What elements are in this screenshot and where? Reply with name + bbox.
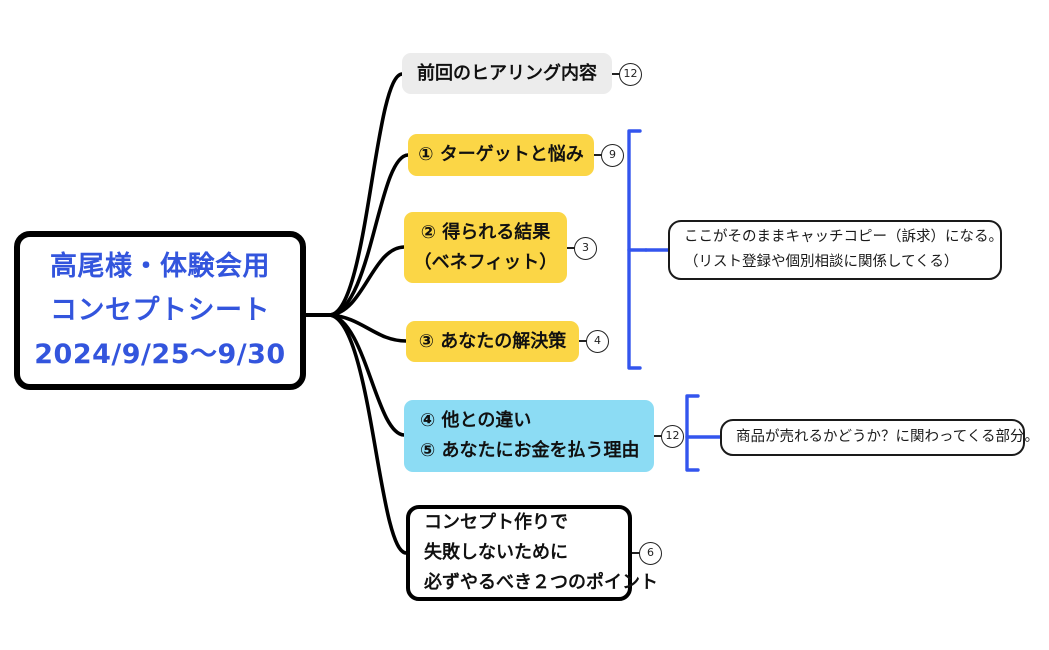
callout-sellability[interactable]: 商品が売れるかどうか？に関わってくる部分。 xyxy=(720,419,1025,456)
callout-catchcopy[interactable]: ここがそのままキャッチコピー（訴求）になる。 （リスト登録や個別相談に関係してく… xyxy=(668,220,1002,280)
badge-hearing: 12 xyxy=(619,63,642,86)
branch-node-points[interactable]: コンセプト作りで 失敗しないために 必ずやるべき２つのポイント xyxy=(406,505,632,601)
branch-hearing-label: 前回のヒアリング内容 xyxy=(417,59,597,89)
branch-benefit-line-1: ② 得られる結果 xyxy=(421,218,551,248)
callout-sellability-line-1: 商品が売れるかどうか？に関わってくる部分。 xyxy=(722,425,1039,450)
branch-node-target[interactable]: ① ターゲットと悩み xyxy=(408,134,594,176)
branch-difference-line-2: ⑤ あなたにお金を払う理由 xyxy=(420,436,640,466)
branch-benefit-line-2: （ベネフィット） xyxy=(414,248,558,278)
branch-solution-label: ③ あなたの解決策 xyxy=(419,327,567,357)
branch-points-line-3: 必ずやるべき２つのポイント xyxy=(424,568,658,598)
branch-points-line-1: コンセプト作りで xyxy=(424,508,568,538)
badge-target: 9 xyxy=(601,144,624,167)
root-line-1: 高尾様・体験会用 xyxy=(50,245,270,289)
badge-points: 6 xyxy=(639,542,662,565)
branch-node-hearing[interactable]: 前回のヒアリング内容 xyxy=(402,53,612,94)
branch-target-label: ① ターゲットと悩み xyxy=(418,140,584,170)
callout-catchcopy-line-1: ここがそのままキャッチコピー（訴求）になる。 xyxy=(670,225,1003,250)
branch-node-benefit[interactable]: ② 得られる結果 （ベネフィット） xyxy=(404,212,567,283)
branch-node-difference[interactable]: ④ 他との違い ⑤ あなたにお金を払う理由 xyxy=(404,400,654,472)
root-line-3: 2024/9/25〜9/30 xyxy=(34,333,285,377)
branch-points-line-2: 失敗しないために xyxy=(424,538,568,568)
badge-benefit: 3 xyxy=(574,237,597,260)
root-line-2: コンセプトシート xyxy=(50,289,270,333)
badge-solution: 4 xyxy=(586,330,609,353)
callout-catchcopy-line-2: （リスト登録や個別相談に関係してくる） xyxy=(670,250,958,275)
mindmap-canvas: 高尾様・体験会用 コンセプトシート 2024/9/25〜9/30 前回のヒアリン… xyxy=(0,0,1049,650)
branch-difference-line-1: ④ 他との違い xyxy=(420,406,531,436)
badge-difference: 12 xyxy=(661,425,684,448)
root-node[interactable]: 高尾様・体験会用 コンセプトシート 2024/9/25〜9/30 xyxy=(14,231,306,390)
branch-node-solution[interactable]: ③ あなたの解決策 xyxy=(406,321,579,362)
